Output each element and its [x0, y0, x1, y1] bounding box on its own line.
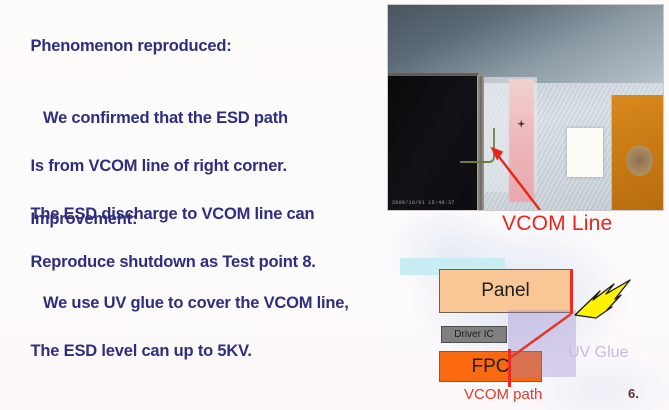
vcom-line-callout-label: VCOM Line: [502, 212, 612, 236]
lightning-bolt-icon: [575, 280, 630, 318]
photo-callout-arrow-icon: [388, 5, 663, 210]
slide-page-number: 6.: [628, 386, 639, 401]
stackup-diagram: Panel Driver IC FPC UV Glue VCOM path 6.: [400, 258, 669, 410]
improvement-line-2: The ESD level can up to 5KV.: [31, 342, 252, 360]
slide-canvas: Phenomenon reproduced: We confirmed that…: [0, 0, 669, 410]
improvement-heading: Improvement:: [31, 210, 138, 228]
photo-timestamp: 2009/10/01 15:49:37: [392, 200, 455, 206]
phenomenon-heading: Phenomenon reproduced:: [31, 37, 232, 55]
phenomenon-line-1: We confirmed that the ESD path: [13, 106, 316, 130]
diagram-vcom-path-label: VCOM path: [464, 386, 542, 403]
esd-test-photo: 2009/10/01 15:49:37: [387, 4, 664, 211]
vcom-path-line: [510, 314, 571, 358]
solution-text-block: We use UV glue to cover the VCOM line, T…: [13, 243, 349, 387]
phenomenon-line-2: Is from VCOM line of right corner.: [31, 157, 287, 175]
improvement-line-1: We use UV glue to cover the VCOM line,: [13, 291, 349, 315]
